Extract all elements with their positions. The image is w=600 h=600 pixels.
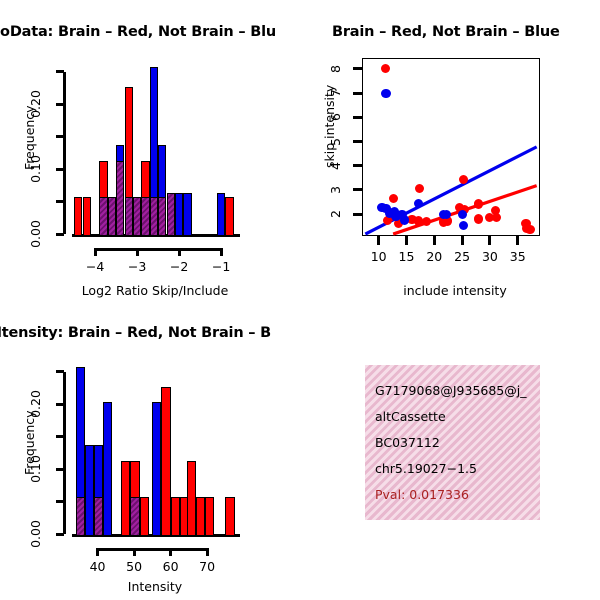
- y-axis-line: [63, 372, 66, 534]
- x-axis-tick-label: −3: [117, 259, 157, 274]
- y-axis-tick-label: 3: [327, 178, 345, 202]
- info-line: BC037112: [375, 435, 440, 450]
- histogram-bar: [152, 402, 161, 536]
- histogram-bar: [187, 461, 196, 536]
- y-axis-tick: [56, 468, 64, 471]
- intensity-histogram-plot: 0.000.100.2040506070: [0, 300, 300, 600]
- x-axis-tick: [405, 236, 408, 245]
- x-axis-tick: [206, 548, 209, 556]
- info-pval: Pval: 0.017336: [375, 487, 469, 502]
- y-axis-tick-label: 7: [327, 81, 345, 105]
- y-axis-tick-label: 8: [327, 57, 345, 81]
- histogram-bar: [225, 197, 233, 236]
- histogram-bar: [196, 497, 205, 536]
- y-axis-tick: [353, 188, 362, 191]
- scatter-point: [474, 199, 483, 208]
- y-axis-tick: [353, 116, 362, 119]
- panel-ratio-histogram: RatioData: Brain – Red, Not Brain – Blu …: [0, 0, 300, 310]
- x-axis-tick: [136, 248, 139, 256]
- x-axis-tick-label: 50: [114, 559, 154, 574]
- y-axis-tick: [56, 370, 64, 373]
- y-axis-tick-label: 0.10: [27, 149, 45, 189]
- scatter-point: [525, 225, 534, 234]
- x-axis-tick: [377, 236, 380, 245]
- histogram-bar: [141, 197, 149, 236]
- y-axis-tick: [56, 103, 64, 106]
- histogram-bar: [175, 193, 183, 236]
- histogram-bar: [103, 402, 112, 536]
- histogram-bar: [133, 197, 141, 236]
- panel-intensity-histogram: ne Itensity: Brain – Red, Not Brain – B …: [0, 300, 300, 600]
- y-axis-tick-label: 4: [327, 154, 345, 178]
- y-axis-tick: [56, 403, 64, 406]
- y-axis-tick-label: 0.20: [27, 84, 45, 124]
- histogram-bar: [158, 197, 166, 236]
- y-axis-tick-label: 0.20: [27, 384, 45, 424]
- histogram-bar: [225, 497, 234, 536]
- x-axis-tick: [169, 548, 172, 556]
- histogram-bar: [217, 193, 225, 236]
- histogram-bar: [76, 497, 85, 536]
- y-axis-tick-label: 0.00: [27, 214, 45, 254]
- y-axis-tick-label: 5: [327, 130, 345, 154]
- histogram-bar: [167, 193, 175, 236]
- scatter-point: [492, 213, 501, 222]
- x-axis-tick-label: 40: [78, 559, 118, 574]
- histogram-bar: [125, 197, 133, 236]
- histogram-bar: [74, 197, 82, 236]
- y-axis-tick: [56, 135, 64, 138]
- y-axis-tick-label: 0.00: [27, 514, 45, 554]
- info-line: G7179068@J935685@j_: [375, 383, 526, 398]
- histogram-bar: [94, 497, 103, 536]
- histogram-bar: [205, 497, 214, 536]
- histogram-bar: [140, 497, 149, 536]
- x-axis-line: [98, 548, 208, 551]
- histogram-bar: [116, 161, 124, 236]
- x-axis-tick-label: −2: [159, 259, 199, 274]
- figure-canvas: RatioData: Brain – Red, Not Brain – Blu …: [0, 0, 600, 600]
- panel-info: G7179068@J935685@j_altCassetteBC037112ch…: [300, 300, 600, 600]
- x-axis-tick: [178, 248, 181, 256]
- y-axis-tick: [56, 233, 64, 236]
- info-box: G7179068@J935685@j_altCassetteBC037112ch…: [365, 365, 540, 520]
- y-axis-tick: [56, 168, 64, 171]
- scatter-point: [381, 89, 390, 98]
- histogram-bar: [99, 197, 107, 236]
- y-axis-tick: [56, 435, 64, 438]
- scatter-plot: 2345678101520253035: [300, 0, 600, 300]
- x-axis-tick-label: −1: [201, 259, 241, 274]
- info-line: chr5.19027−1.5: [375, 461, 477, 476]
- histogram-bar: [161, 387, 170, 536]
- y-axis-tick: [56, 500, 64, 503]
- y-axis-tick: [353, 67, 362, 70]
- x-axis-tick: [461, 236, 464, 245]
- y-axis-line: [63, 72, 66, 234]
- x-axis-tick-label: 70: [187, 559, 227, 574]
- x-axis-tick: [220, 248, 223, 256]
- y-axis-tick: [56, 533, 64, 536]
- histogram-bar: [150, 197, 158, 236]
- y-axis-tick-label: 6: [327, 105, 345, 129]
- scatter-point: [389, 194, 398, 203]
- histogram-bar: [108, 197, 116, 236]
- y-axis-tick: [56, 70, 64, 73]
- x-axis-tick: [94, 248, 97, 256]
- x-axis-tick: [516, 236, 519, 245]
- histogram-bar: [85, 445, 94, 536]
- histogram-bar: [171, 497, 180, 536]
- histogram-bar: [130, 497, 139, 536]
- x-axis-tick: [96, 548, 99, 556]
- histogram-bar: [183, 193, 191, 236]
- y-axis-tick: [56, 200, 64, 203]
- scatter-point: [400, 215, 409, 224]
- x-axis-tick-label: 35: [498, 249, 538, 264]
- histogram-bar: [83, 197, 91, 236]
- ratio-histogram-plot: 0.000.100.20−4−3−2−1: [0, 0, 300, 300]
- x-axis-tick-label: 60: [151, 559, 191, 574]
- x-axis-tick: [488, 236, 491, 245]
- x-axis-tick-label: −4: [75, 259, 115, 274]
- x-axis-tick: [433, 236, 436, 245]
- info-line: altCassette: [375, 409, 446, 424]
- scatter-point: [458, 210, 467, 219]
- x-axis-line: [95, 248, 221, 251]
- histogram-bar: [121, 461, 130, 536]
- y-axis-tick: [353, 213, 362, 216]
- y-axis-tick-label: 0.10: [27, 449, 45, 489]
- y-axis-tick: [353, 164, 362, 167]
- y-axis-tick: [353, 140, 362, 143]
- scatter-point: [474, 214, 483, 223]
- x-axis-tick: [133, 548, 136, 556]
- y-axis-tick: [353, 92, 362, 95]
- panel-intensity-scatter: Brain – Red, Not Brain – Blue skip inten…: [300, 0, 600, 310]
- y-axis-tick-label: 2: [327, 202, 345, 226]
